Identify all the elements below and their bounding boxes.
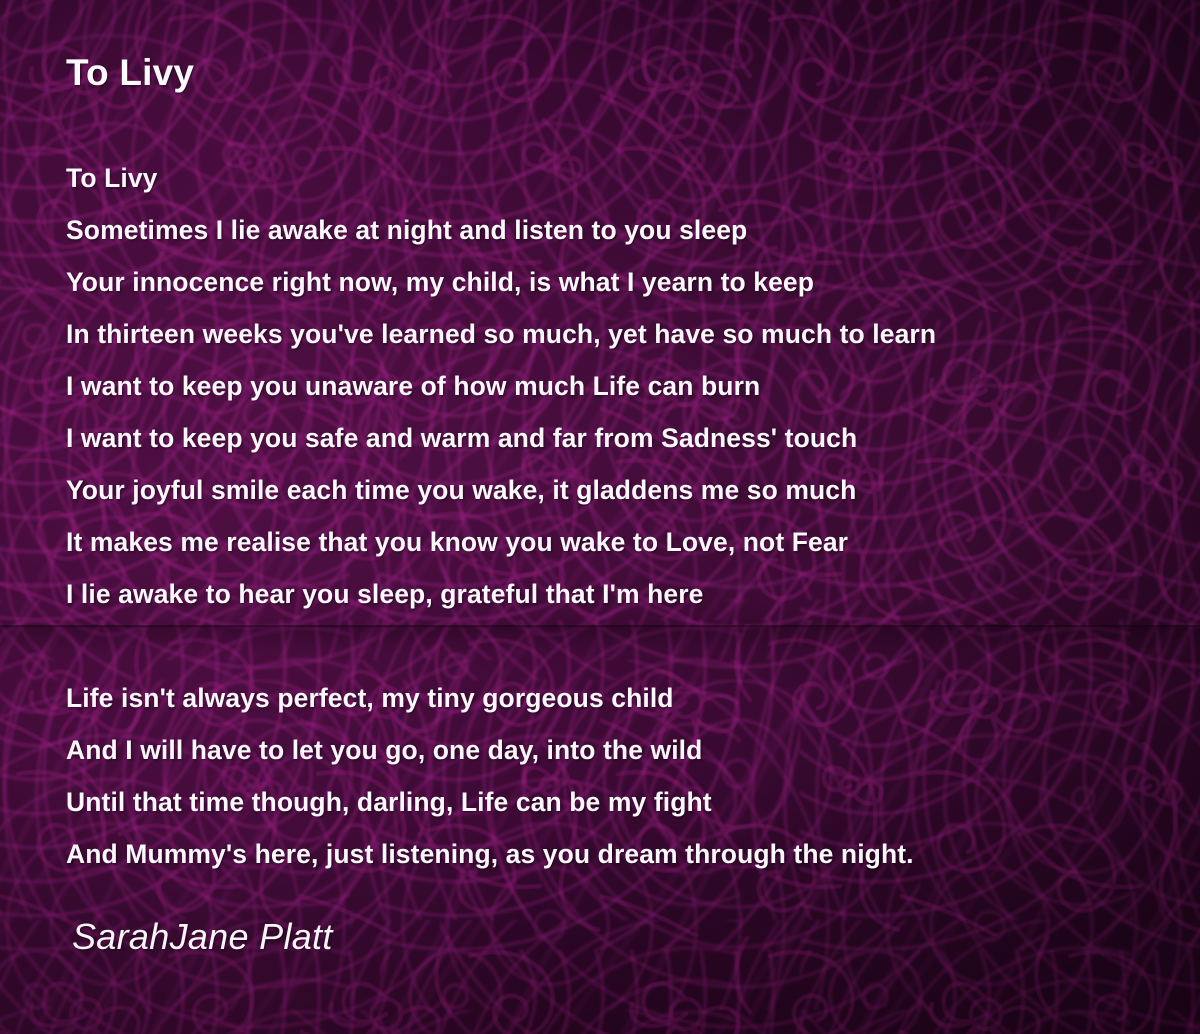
poem-line: Your joyful smile each time you wake, it… (66, 464, 1176, 516)
author-signature: SarahJane Platt (72, 916, 333, 958)
poem-line: Your innocence right now, my child, is w… (66, 256, 1176, 308)
poem-content: To Livy To Livy Sometimes I lie awake at… (0, 0, 1200, 1034)
poem-line: And Mummy's here, just listening, as you… (66, 828, 1176, 880)
poem-line: I lie awake to hear you sleep, grateful … (66, 568, 1176, 620)
poem-line: I want to keep you unaware of how much L… (66, 360, 1176, 412)
poem-line: In thirteen weeks you've learned so much… (66, 308, 1176, 360)
poem-line: To Livy (66, 152, 1176, 204)
poem-line-blank (66, 620, 1176, 672)
poem-image-card: To Livy To Livy Sometimes I lie awake at… (0, 0, 1200, 1034)
poem-line: And I will have to let you go, one day, … (66, 724, 1176, 776)
poem-line: Sometimes I lie awake at night and liste… (66, 204, 1176, 256)
poem-text-block: To Livy Sometimes I lie awake at night a… (66, 152, 1176, 880)
page-title: To Livy (66, 52, 194, 94)
poem-line: Life isn't always perfect, my tiny gorge… (66, 672, 1176, 724)
poem-line: Until that time though, darling, Life ca… (66, 776, 1176, 828)
poem-line: It makes me realise that you know you wa… (66, 516, 1176, 568)
poem-line: I want to keep you safe and warm and far… (66, 412, 1176, 464)
